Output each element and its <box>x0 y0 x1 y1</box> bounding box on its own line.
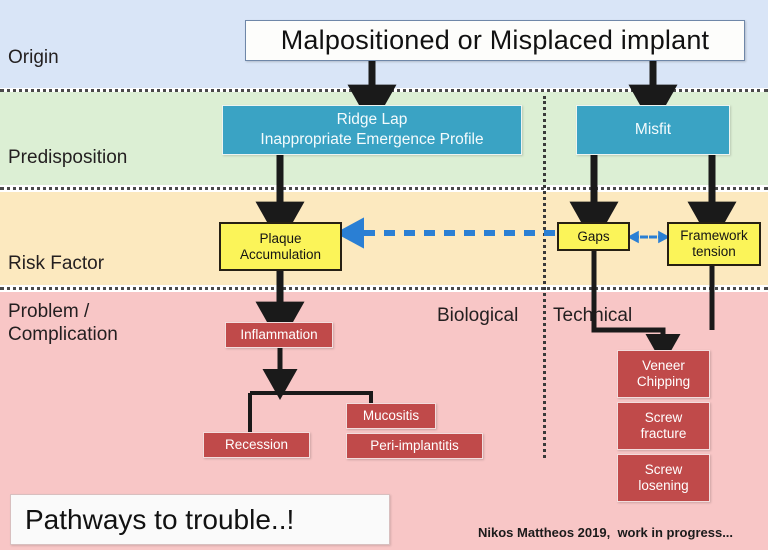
node-framework-tension[interactable]: Framework tension <box>667 222 761 266</box>
node-veneer-chipping[interactable]: Veneer Chipping <box>617 350 710 398</box>
diagram-canvas: Origin Predisposition Risk Factor Proble… <box>0 0 768 550</box>
node-misfit[interactable]: Misfit <box>576 105 730 155</box>
credit-text: Nikos Mattheos 2019, work in progress... <box>478 525 733 540</box>
node-recession[interactable]: Recession <box>203 432 310 458</box>
node-mucositis[interactable]: Mucositis <box>346 403 436 429</box>
node-inflammation[interactable]: Inflammation <box>225 322 333 348</box>
node-origin-implant[interactable]: Malpositioned or Misplaced implant <box>245 20 745 61</box>
node-ridge-lap[interactable]: Ridge Lap Inappropriate Emergence Profil… <box>222 105 522 155</box>
node-screw-losening[interactable]: Screw losening <box>617 454 710 502</box>
node-plaque-accumulation[interactable]: Plaque Accumulation <box>219 222 342 271</box>
node-gaps[interactable]: Gaps <box>557 222 630 251</box>
node-peri-implantitis[interactable]: Peri-implantitis <box>346 433 483 459</box>
node-screw-fracture[interactable]: Screw fracture <box>617 402 710 450</box>
banner-pathways-to-trouble: Pathways to trouble..! <box>10 494 390 545</box>
